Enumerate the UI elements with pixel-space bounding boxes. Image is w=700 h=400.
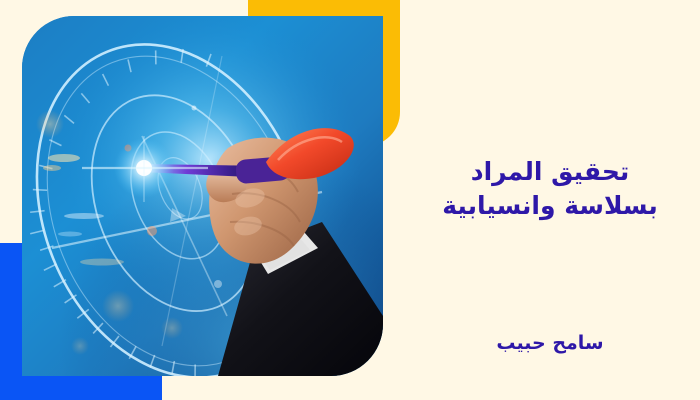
cover-photo-illustration [22,16,383,376]
cover-title-line-1: تحقيق المراد [400,155,700,189]
article-cover: تحقيق المراد بسلاسة وانسيابية سامح حبيب [0,0,700,400]
cover-title-line-2: بسلاسة وانسيابية [400,189,700,223]
cover-photo [22,16,383,376]
cover-title: تحقيق المراد بسلاسة وانسيابية [400,155,700,223]
author-name: سامح حبيب [400,330,700,356]
text-column: تحقيق المراد بسلاسة وانسيابية سامح حبيب [400,0,700,400]
